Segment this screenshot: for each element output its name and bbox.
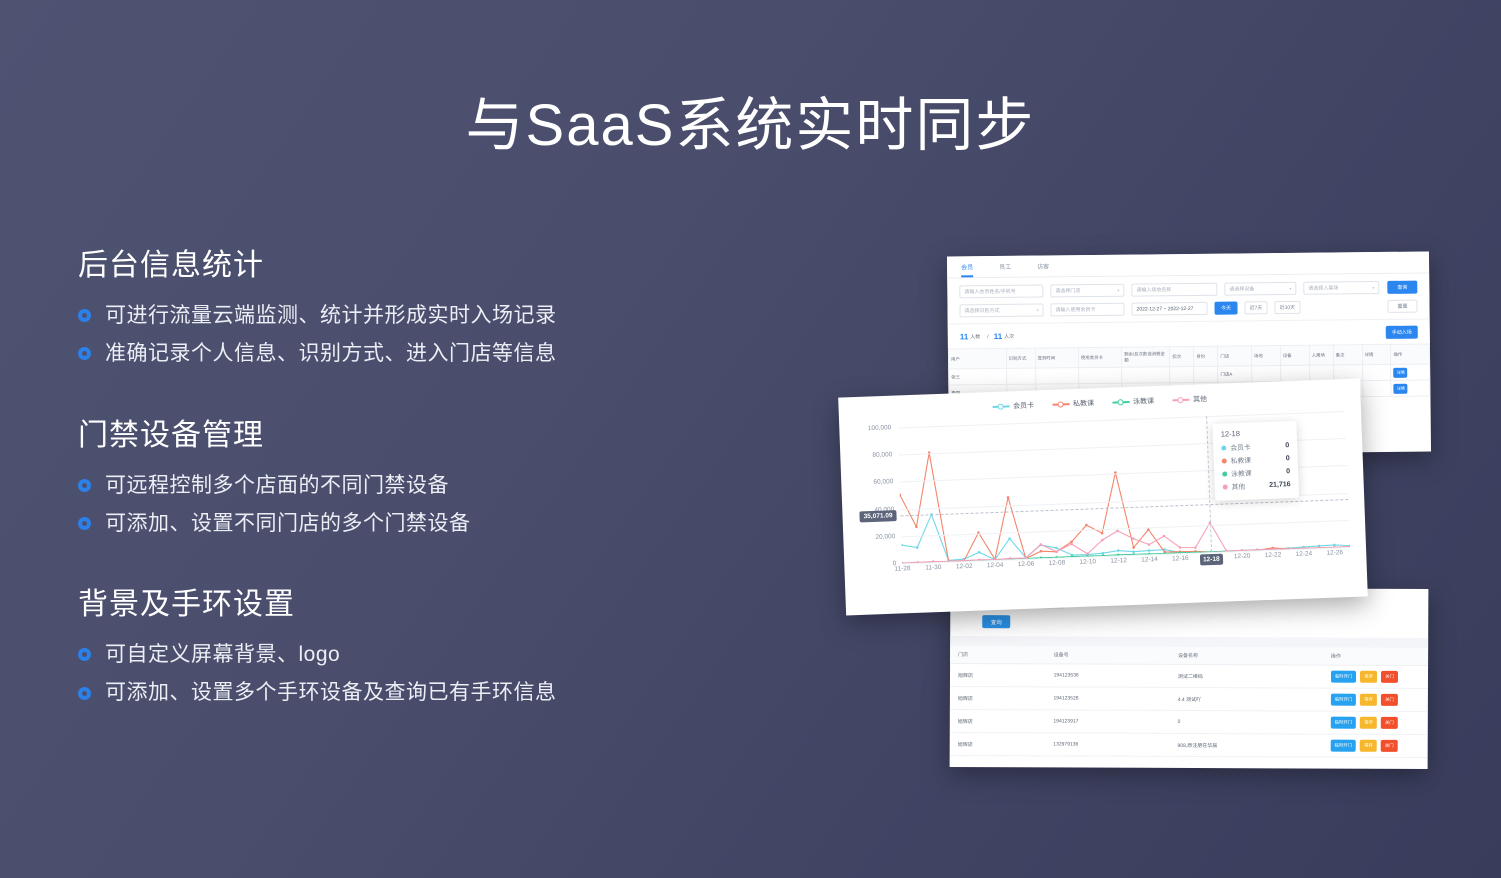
range-7days-button[interactable]: 近7天 (1244, 301, 1267, 314)
chart-y-tick-label: 80,000 (872, 451, 892, 459)
cell-detail (1362, 364, 1391, 380)
devices-query-button[interactable]: 查询 (982, 615, 1010, 628)
bullet-ring-icon (78, 687, 91, 700)
th-action: 操作 (1391, 344, 1430, 364)
devices-table: 门店 设备号 设备名称 操作 旭辉店 194123536 测试二维码 临时开门 (950, 646, 1428, 758)
filter-row-2: 请选择识别方式 ▾ 请输入使用会员卡 2022-12-27 ~ 2022-12-… (959, 300, 1417, 318)
hold-open-button[interactable]: 常开 (1360, 694, 1377, 706)
bullet-ring-icon (78, 479, 91, 492)
bullet-ring-icon (78, 517, 91, 530)
cell-dev-name: 908,原注册在华辰 (1170, 733, 1323, 757)
chart-x-tick-label: 12-02 (956, 563, 973, 571)
cell-user: 张三 (949, 368, 1007, 385)
chart-body: 020,00040,00060,00080,000100,00035,071.0… (849, 407, 1357, 585)
th-recognition: 识别方式 (1006, 348, 1035, 368)
cell-dev-name: 4.4 测试吖 (1170, 687, 1323, 711)
th-dev-name: 设备名称 (1170, 647, 1323, 665)
visit-count: 11 (994, 332, 1003, 341)
feature-bullet: 可添加、设置多个手环设备及查询已有手环信息 (78, 679, 718, 706)
hold-open-button[interactable]: 常开 (1360, 671, 1377, 683)
th-checkin-time: 签到时间 (1035, 348, 1078, 368)
feature-bullet: 可进行流量云端监测、统计并形成实时入场记录 (78, 302, 718, 329)
chart-legend-item[interactable]: 会员卡 (992, 400, 1034, 412)
feature-bullet-text: 可自定义屏幕背景、logo (105, 641, 340, 668)
member-name-placeholder: 请输入会员姓名/手机号 (964, 288, 1015, 296)
row-detail-button[interactable]: 详情 (1394, 383, 1408, 393)
cell-dev-name: 测试二维码 (1170, 664, 1323, 688)
cell-detail (1362, 380, 1391, 396)
chart-x-tick-label: 12-20 (1234, 553, 1251, 561)
cell-dev-name: 0 (1170, 710, 1323, 734)
range-30days-button[interactable]: 近30天 (1274, 301, 1300, 314)
chart-x-tick-label: 12-12 (1110, 557, 1127, 565)
cell-dev-no: 132979136 (1045, 733, 1169, 757)
tab-members[interactable]: 会员 (961, 262, 973, 277)
cell-dev-no: 194123528 (1045, 687, 1169, 711)
cell-remaining (1122, 367, 1170, 384)
feature-bullet-text: 可添加、设置多个手环设备及查询已有手环信息 (105, 679, 557, 706)
member-card-input[interactable]: 请输入使用会员卡 (1050, 303, 1124, 317)
th-store: 门店 (1218, 346, 1252, 366)
venue-name-input[interactable]: 请输入场地名称 (1131, 283, 1217, 297)
cell-dev-actions: 临时开门 常开 关门 (1322, 734, 1427, 757)
chart-x-tick-label: 12-16 (1172, 555, 1189, 563)
date-range-value: 2022-12-27 ~ 2022-12-27 (1136, 305, 1193, 312)
recognition-method-placeholder: 请选择识别方式 (964, 307, 999, 314)
th-member-card: 使用会员卡 (1078, 347, 1121, 367)
cell-dev-store: 旭辉店 (950, 686, 1046, 709)
th-venue: 场地 (1251, 346, 1280, 366)
records-filters: 请输入会员姓名/手机号 请选择门店 ▾ 请输入场地名称 请选择设备 ▾ 请选择入 (947, 273, 1429, 323)
th-dev-no: 设备号 (1046, 646, 1170, 664)
chart-panel: 会员卡私教课泳教课其他 020,00040,00060,00080,000100… (838, 379, 1368, 616)
legend-marker-icon (992, 402, 1009, 411)
bullet-ring-icon (78, 347, 91, 360)
feature-block-3: 背景及手环设置 可自定义屏幕背景、logo 可添加、设置多个手环设备及查询已有手… (78, 579, 718, 707)
device-select[interactable]: 请选择设备 ▾ (1224, 282, 1296, 296)
close-door-button[interactable]: 关门 (1381, 694, 1398, 706)
cell-dev-store: 旭辉店 (950, 663, 1046, 686)
feature-heading-3: 背景及手环设置 (78, 579, 718, 623)
th-identity: 身份 (1194, 346, 1218, 366)
feature-block-2: 门禁设备管理 可远程控制多个店面的不同门禁设备 可添加、设置不同门店的多个门禁设… (78, 410, 718, 538)
tooltip-series-value: 21,716 (1269, 481, 1291, 489)
cell-dev-no: 194123917 (1045, 710, 1169, 734)
chart-x-tick-label: 12-14 (1141, 556, 1158, 564)
feature-block-1: 后台信息统计 可进行流量云端监测、统计并形成实时入场记录 准确记录个人信息、识别… (78, 240, 718, 368)
temp-open-button[interactable]: 临时开门 (1331, 671, 1357, 683)
inout-select[interactable]: 请选择入离场 ▾ (1303, 281, 1379, 295)
chart-data-point (1117, 549, 1120, 552)
chart-y-tick-label: 60,000 (873, 479, 893, 487)
chart-x-tick-label: 12-04 (987, 562, 1004, 570)
reset-button[interactable]: 重置 (1387, 300, 1417, 313)
feature-bullet: 准确记录个人信息、识别方式、进入门店等信息 (78, 340, 718, 367)
chart-average-badge: 35,071.09 (859, 510, 896, 522)
cell-store: 门店A (1218, 366, 1252, 382)
cell-dev-actions: 临时开门 常开 关门 (1323, 665, 1428, 688)
tooltip-series-name: 私教课 (1231, 455, 1252, 466)
chart-legend-item[interactable]: 私教课 (1052, 398, 1094, 410)
visit-count-label: 人次 (1004, 333, 1014, 340)
member-card-placeholder: 请输入使用会员卡 (1055, 306, 1095, 313)
chart-y-tick-label: 20,000 (875, 533, 895, 541)
chart-legend-label: 会员卡 (1013, 400, 1034, 411)
chart-data-point (1132, 550, 1135, 553)
chart-x-tick-label: 12-24 (1295, 550, 1312, 558)
feature-bullet: 可远程控制多个店面的不同门禁设备 (78, 472, 718, 499)
feature-heading-2: 门禁设备管理 (78, 410, 718, 454)
cell-member-card (1078, 367, 1121, 383)
cell-device (1280, 365, 1309, 381)
tooltip-title: 12-18 (1221, 427, 1289, 438)
cell-dev-actions: 临时开门 常开 关门 (1323, 688, 1428, 711)
member-name-input[interactable]: 请输入会员姓名/手机号 (959, 285, 1043, 299)
chart-x-tick-label: 11-28 (894, 565, 910, 573)
cell-identity (1194, 366, 1218, 382)
table-row[interactable]: 旭辉店 194123536 测试二维码 临时开门 常开 关门 (950, 663, 1428, 688)
devices-panel: 门店 --请选择门店-- ▾ 查询 门店 设备号 设备名称 操作 (950, 587, 1429, 769)
filter-row-1: 请输入会员姓名/手机号 请选择门店 ▾ 请输入场地名称 请选择设备 ▾ 请选择入 (959, 281, 1417, 299)
cell-deduct (1170, 366, 1194, 382)
chart-legend-label: 私教课 (1073, 398, 1094, 409)
chevron-down-icon: ▾ (1372, 285, 1374, 290)
chart-x-tick-label: 11-30 (925, 564, 941, 572)
cell-venue (1252, 366, 1281, 382)
chart-data-point (1148, 549, 1151, 552)
people-count-label: 人数 (970, 333, 980, 340)
chart-legend-item[interactable]: 泳教课 (1112, 396, 1154, 408)
store-select-placeholder: 请选择门店 (1055, 287, 1080, 294)
table-row[interactable]: 旭辉店 132979136 908,原注册在华辰 临时开门 常开 关门 (950, 732, 1428, 757)
table-row[interactable]: 旭辉店 194123528 4.4 测试吖 临时开门 常开 关门 (950, 686, 1428, 711)
cell-action: 详情 (1391, 380, 1430, 396)
range-today-button[interactable]: 今天 (1214, 301, 1237, 314)
tooltip-series-name: 其他 (1231, 481, 1245, 491)
feature-list: 后台信息统计 可进行流量云端监测、统计并形成实时入场记录 准确记录个人信息、识别… (78, 240, 718, 707)
chart-x-tick-label: 12-22 (1265, 552, 1282, 560)
cell-dev-no: 194123536 (1046, 664, 1170, 688)
th-dev-store: 门店 (950, 646, 1046, 664)
manual-entry-button[interactable]: 手动入场 (1386, 326, 1418, 339)
feature-bullet: 可自定义屏幕背景、logo (78, 641, 718, 668)
feature-bullet: 可添加、设置不同门店的多个门禁设备 (78, 510, 718, 537)
chevron-down-icon: ▾ (1289, 286, 1291, 291)
chart-data-point (900, 544, 903, 547)
temp-open-button[interactable]: 临时开门 (1330, 740, 1356, 752)
th-dev-action: 操作 (1323, 648, 1428, 666)
chart-x-tick-label: 12-18 (1200, 554, 1223, 566)
legend-marker-icon (1172, 396, 1189, 405)
chevron-down-icon: ▾ (1117, 288, 1119, 293)
cell-action: 详情 (1391, 364, 1430, 380)
tab-staff[interactable]: 员工 (999, 262, 1011, 277)
tooltip-row: 私教课0 (1222, 453, 1290, 465)
close-door-button[interactable]: 关门 (1381, 740, 1398, 752)
bullet-ring-icon (78, 309, 91, 322)
date-range-input[interactable]: 2022-12-27 ~ 2022-12-27 (1131, 302, 1207, 316)
chart-y-tick-label: 100,000 (868, 424, 892, 432)
inout-select-placeholder: 请选择入离场 (1308, 284, 1338, 291)
tooltip-series-dot-icon (1223, 484, 1228, 489)
feature-bullet-text: 可添加、设置不同门店的多个门禁设备 (105, 510, 471, 537)
feature-bullet-text: 准确记录个人信息、识别方式、进入门店等信息 (105, 340, 557, 367)
screenshot-stack: 会员 员工 访客 请输入会员姓名/手机号 请选择门店 ▾ 请输入场地名称 (820, 240, 1460, 780)
venue-name-placeholder: 请输入场地名称 (1136, 286, 1171, 293)
chart-legend-label: 其他 (1193, 394, 1207, 405)
chart-data-point (1102, 552, 1105, 555)
th-detail: 详情 (1362, 344, 1391, 364)
page-title: 与SaaS系统实时同步 (0, 78, 1501, 162)
close-door-button[interactable]: 关门 (1381, 717, 1398, 729)
device-select-placeholder: 请选择设备 (1229, 285, 1254, 292)
chart-data-point (1007, 496, 1010, 499)
chart-x-tick-label: 12-06 (1018, 561, 1035, 569)
row-detail-button[interactable]: 详情 (1394, 367, 1408, 377)
cell-dev-store: 旭辉店 (950, 709, 1046, 732)
feature-heading-1: 后台信息统计 (78, 240, 718, 284)
table-row[interactable]: 旭辉店 194123917 0 临时开门 常开 关门 (950, 709, 1428, 734)
store-select[interactable]: 请选择门店 ▾ (1050, 284, 1124, 298)
chart-x-tick-label: 12-08 (1048, 559, 1065, 567)
people-count: 11 (960, 332, 969, 341)
th-remaining: 剩余/总次数或消费金额 (1122, 347, 1170, 368)
tooltip-series-dot-icon (1222, 471, 1227, 476)
search-button[interactable]: 查询 (1387, 281, 1417, 294)
th-deduct: 扣次 (1170, 346, 1194, 366)
tooltip-series-dot-icon (1221, 445, 1226, 450)
tooltip-series-value: 0 (1285, 442, 1289, 449)
temp-open-button[interactable]: 临时开门 (1331, 694, 1357, 706)
cell-dev-store: 旭辉店 (950, 732, 1046, 755)
tooltip-series-name: 泳教课 (1231, 468, 1252, 479)
temp-open-button[interactable]: 临时开门 (1331, 717, 1357, 729)
th-device: 设备 (1280, 345, 1309, 365)
tooltip-series-name: 会员卡 (1230, 442, 1251, 453)
chevron-down-icon: ▾ (1036, 308, 1038, 313)
feature-bullet-text: 可进行流量云端监测、统计并形成实时入场记录 (105, 302, 557, 329)
recognition-method-select[interactable]: 请选择识别方式 ▾ (959, 304, 1043, 318)
cell-recognition (1006, 368, 1035, 384)
chart-legend-item[interactable]: 其他 (1172, 394, 1207, 405)
chart-legend-label: 泳教课 (1133, 396, 1154, 407)
stats-separator: / (987, 334, 988, 340)
devices-table-header-row: 门店 设备号 设备名称 操作 (950, 646, 1428, 666)
tab-visitors[interactable]: 访客 (1037, 261, 1049, 276)
th-user: 用户 (948, 348, 1006, 369)
slide-root: 与SaaS系统实时同步 后台信息统计 可进行流量云端监测、统计并形成实时入场记录… (0, 0, 1501, 878)
tooltip-series-value: 0 (1286, 468, 1290, 475)
tooltip-row: 泳教课0 (1222, 466, 1290, 478)
th-inout: 入离场 (1309, 345, 1333, 365)
feature-bullet-text: 可远程控制多个店面的不同门禁设备 (105, 472, 449, 499)
chart-x-tick-label: 12-26 (1326, 549, 1343, 557)
tooltip-row: 其他21,716 (1222, 479, 1290, 491)
tooltip-row: 会员卡0 (1221, 440, 1289, 452)
legend-marker-icon (1112, 398, 1129, 407)
th-remark: 备注 (1333, 345, 1362, 365)
chart-tooltip: 12-18会员卡0私教课0泳教课0其他21,716 (1212, 421, 1299, 501)
bullet-ring-icon (78, 648, 91, 661)
hold-open-button[interactable]: 常开 (1360, 717, 1377, 729)
chart-x-tick-label: 12-10 (1079, 558, 1096, 566)
hold-open-button[interactable]: 常开 (1360, 740, 1377, 752)
cell-dev-actions: 临时开门 常开 关门 (1323, 711, 1428, 734)
legend-marker-icon (1052, 400, 1069, 409)
cell-checkin-time (1035, 368, 1078, 384)
close-door-button[interactable]: 关门 (1381, 671, 1398, 683)
tooltip-series-value: 0 (1286, 455, 1290, 462)
tooltip-series-dot-icon (1222, 458, 1227, 463)
